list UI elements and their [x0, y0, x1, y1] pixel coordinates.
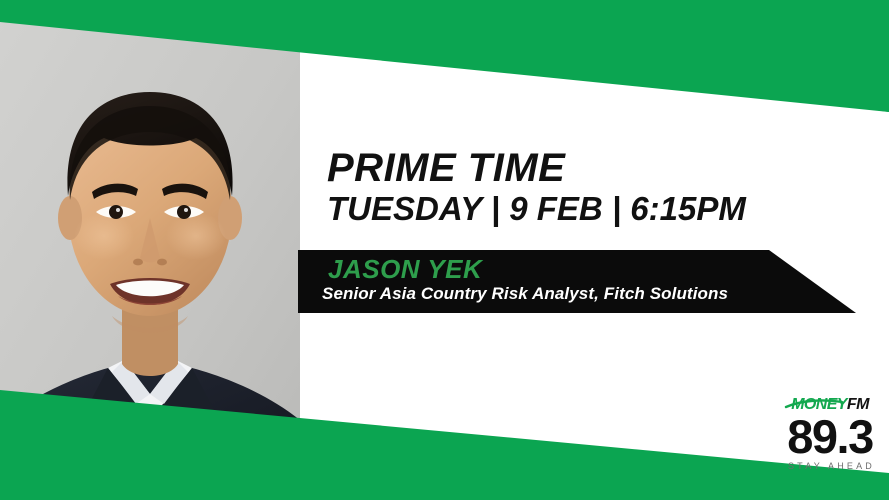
- guest-name-banner: JASON YEK Senior Asia Country Risk Analy…: [298, 250, 856, 313]
- guest-headshot-image: [0, 0, 300, 500]
- logo-money-text: MONEY: [791, 396, 847, 413]
- station-logo: MONEYFM 89.3 STAY AHEAD: [774, 396, 886, 478]
- guest-name: JASON YEK: [328, 254, 482, 285]
- show-title-block: PRIME TIME TUESDAY | 9 FEB | 6:15PM: [327, 148, 847, 228]
- show-title: PRIME TIME: [327, 148, 847, 189]
- logo-fm-text: FM: [847, 396, 869, 413]
- logo-tagline: STAY AHEAD: [774, 461, 886, 471]
- logo-frequency: 89.3: [774, 415, 886, 458]
- guest-role: Senior Asia Country Risk Analyst, Fitch …: [322, 284, 728, 304]
- show-schedule: TUESDAY | 9 FEB | 6:15PM: [327, 191, 847, 228]
- guest-photo: [0, 0, 300, 500]
- promo-graphic: PRIME TIME TUESDAY | 9 FEB | 6:15PM JASO…: [0, 0, 889, 500]
- logo-wordmark: MONEYFM: [774, 396, 886, 414]
